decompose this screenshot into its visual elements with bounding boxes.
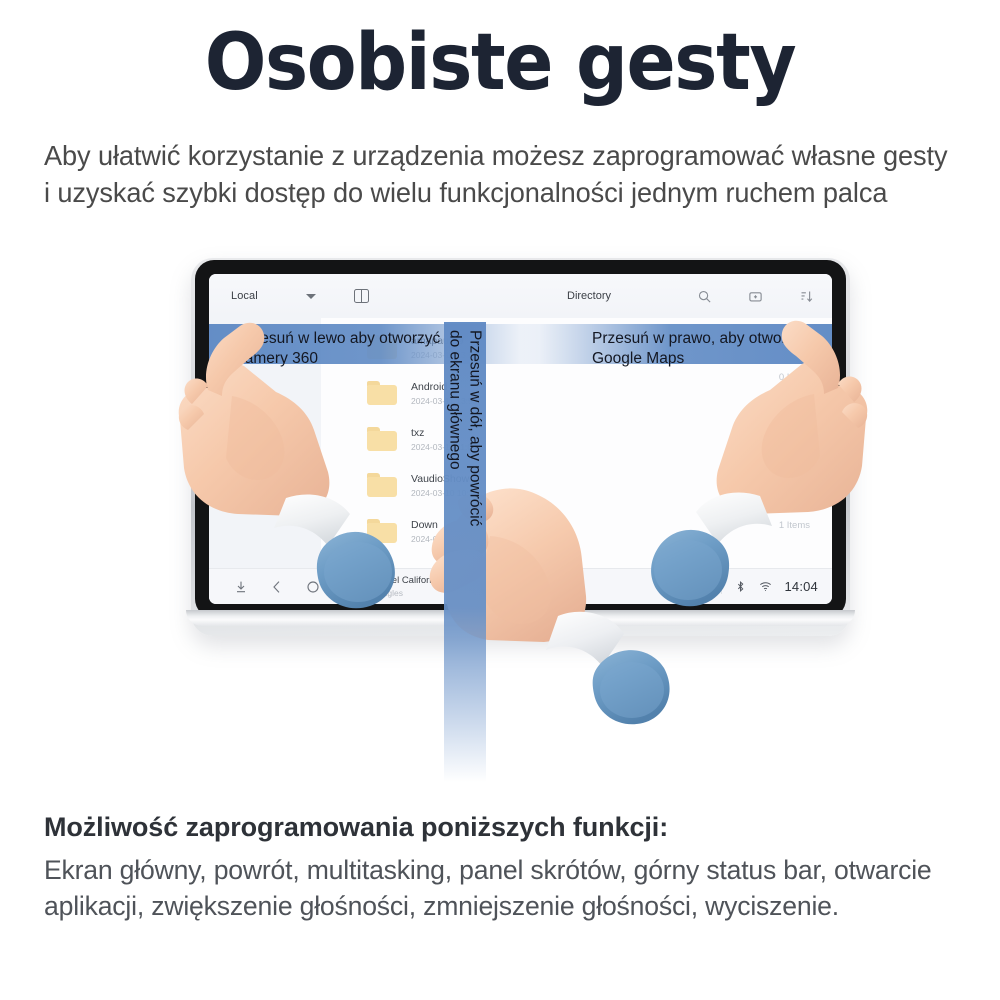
gesture-hint-down-label: Przesuń w dół, aby powrócić do ekranu gł… [445,330,484,526]
page-title: Osobiste gesty [35,24,965,102]
poster-root: Osobiste gesty Aby ułatwić korzystanie z… [0,0,1000,1000]
chevron-down-icon [306,294,316,299]
directory-label: Directory [567,290,611,302]
footer-title: Możliwość zaprogramowania poniższych fun… [44,812,668,843]
footer-body: Ekran główny, powrót, multitasking, pane… [44,852,974,925]
gesture-hint-down: Przesuń w dół, aby powrócić do ekranu gł… [444,322,486,782]
hand-pointing-left [168,300,398,600]
page-subtitle: Aby ułatwić korzystanie z urządzenia moż… [44,138,956,212]
hand-pointing-right [648,298,878,598]
